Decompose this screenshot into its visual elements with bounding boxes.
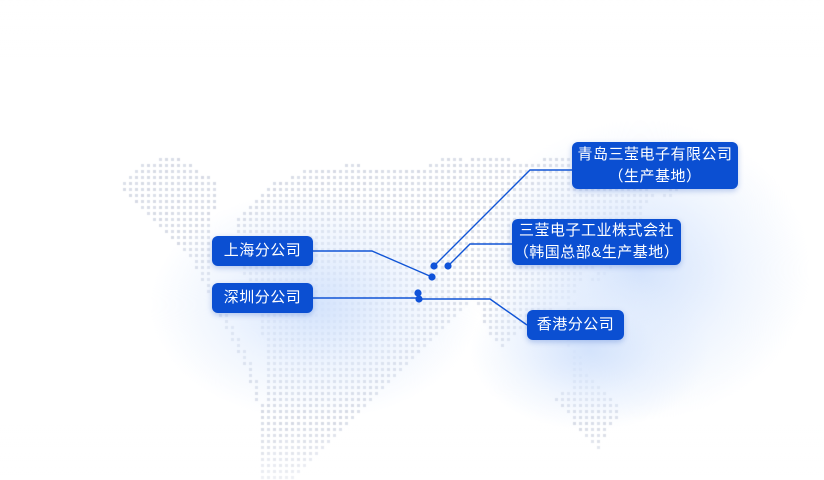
label-qingdao-facility[interactable]: 青岛三莹电子有限公司 （生产基地）	[572, 142, 738, 189]
label-line-2: （生产基地）	[608, 166, 701, 188]
marker-shanghai[interactable]	[428, 273, 435, 280]
marker-shenzhen[interactable]	[414, 289, 421, 296]
label-line-1: 三莹电子工业株式会社	[519, 220, 674, 242]
label-line-1: 香港分公司	[537, 314, 615, 336]
marker-hongkong[interactable]	[415, 295, 422, 302]
connector-shanghai	[313, 251, 432, 277]
label-line-1: 上海分公司	[224, 240, 302, 262]
label-korea-headquarters[interactable]: 三莹电子工业株式会社 （韩国总部&生产基地）	[512, 219, 681, 265]
label-line-1: 青岛三莹电子有限公司	[577, 144, 732, 166]
marker-korea[interactable]	[444, 262, 451, 269]
label-line-2: （韩国总部&生产基地）	[514, 242, 680, 264]
map-infographic: 青岛三莹电子有限公司 （生产基地） 三莹电子工业株式会社 （韩国总部&生产基地）…	[0, 0, 824, 480]
marker-qingdao[interactable]	[430, 262, 437, 269]
label-shenzhen-branch[interactable]: 深圳分公司	[212, 283, 313, 313]
connector-korea	[448, 244, 512, 266]
label-line-1: 深圳分公司	[224, 287, 302, 309]
connector-lines	[0, 0, 824, 480]
label-hongkong-branch[interactable]: 香港分公司	[527, 310, 624, 340]
connector-hongkong	[419, 299, 527, 325]
label-shanghai-branch[interactable]: 上海分公司	[212, 236, 313, 266]
